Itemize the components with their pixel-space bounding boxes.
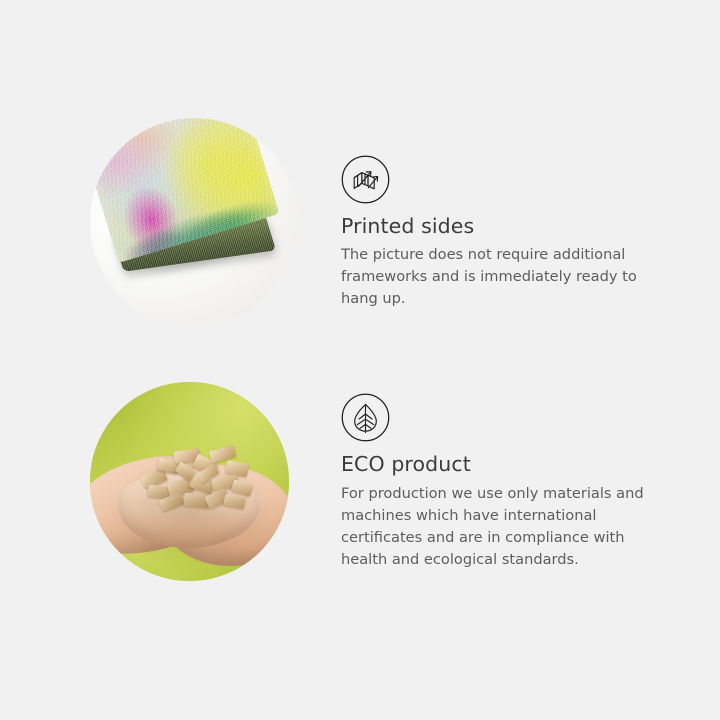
body-line: certificates and are in compliance with bbox=[341, 527, 671, 549]
body-line: machines which have international bbox=[341, 505, 671, 527]
hands-holding-wood-chips-photo bbox=[90, 382, 289, 581]
body-line: The picture does not require additional bbox=[341, 244, 671, 266]
feature-title-eco-product: ECO product bbox=[341, 452, 471, 476]
printed-canvas-corner-photo bbox=[90, 118, 298, 326]
body-line: frameworks and is immediately ready to bbox=[341, 266, 671, 288]
palm-shadow bbox=[90, 382, 289, 581]
printed-sides-canvas-icon bbox=[341, 155, 390, 204]
body-line: For production we use only materials and bbox=[341, 483, 671, 505]
body-line: hang up. bbox=[341, 288, 671, 310]
feature-title-printed-sides: Printed sides bbox=[341, 214, 474, 238]
feature-body-printed-sides: The picture does not require additional … bbox=[341, 244, 671, 310]
leaf-icon bbox=[341, 393, 390, 442]
feature-body-eco-product: For production we use only materials and… bbox=[341, 483, 671, 571]
product-features-panel: Printed sides The picture does not requi… bbox=[0, 0, 720, 720]
body-line: health and ecological standards. bbox=[341, 549, 671, 571]
